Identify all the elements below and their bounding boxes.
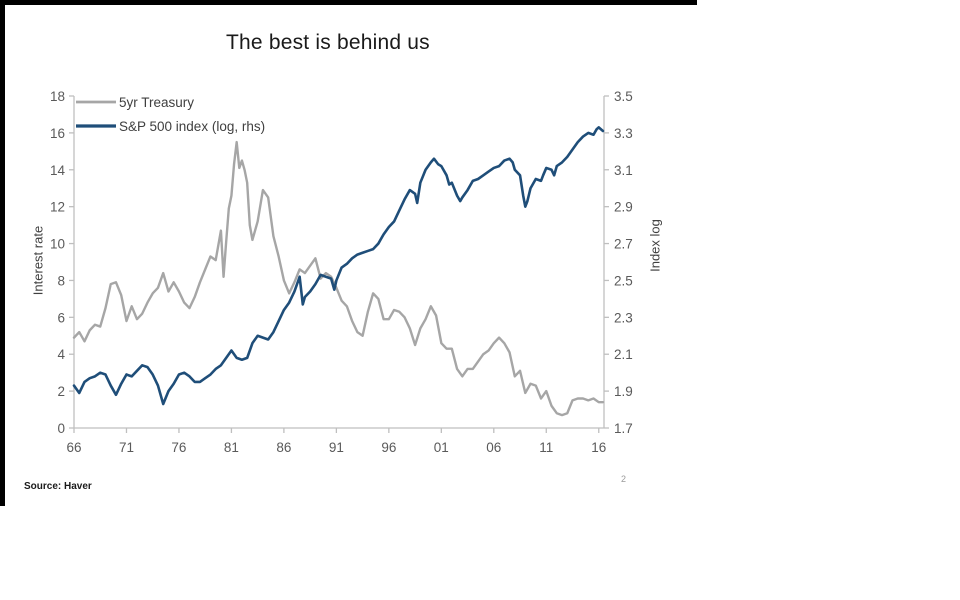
y-axis-left-tick: 10 [50,237,65,252]
slide-canvas: The best is behind us 0246810121416181.7… [0,0,960,600]
chart-series-lines [74,127,603,415]
y-axis-left-tick: 12 [50,200,65,215]
y-axis-left-tick: 2 [57,384,65,399]
page-number: 2 [621,474,626,484]
x-axis-tick: 16 [591,440,606,455]
x-axis-tick: 11 [539,440,553,455]
legend-label-1[interactable]: 5yr Treasury [119,95,194,110]
y-axis-left-tick: 14 [50,163,66,178]
series-line-2 [74,127,603,404]
y-axis-right-tick: 2.5 [614,273,633,288]
y-axis-right-tick: 2.3 [614,310,633,325]
x-axis-tick: 81 [224,440,239,455]
x-axis-tick: 91 [329,440,344,455]
y-axis-left-title: Interest rate [31,191,46,331]
x-axis-tick: 06 [486,440,501,455]
page-title: The best is behind us [226,31,430,55]
y-axis-left-tick: 0 [57,421,65,436]
chart-tick-labels: 0246810121416181.71.92.12.32.52.72.93.13… [50,89,633,455]
y-axis-left-tick: 16 [50,126,65,141]
x-axis-tick: 96 [381,440,396,455]
y-axis-right-tick: 1.7 [614,421,633,436]
y-axis-right-tick: 3.3 [614,126,633,141]
slide-frame-top-border [0,0,697,5]
x-axis-tick: 71 [119,440,134,455]
y-axis-right-title: Index log [648,191,663,301]
chart-axes [69,96,609,433]
y-axis-left-tick: 4 [57,347,65,362]
y-axis-right-tick: 2.1 [614,347,633,362]
chart-container: 0246810121416181.71.92.12.32.52.72.93.13… [14,82,684,462]
x-axis-tick: 66 [66,440,81,455]
legend-label-2[interactable]: S&P 500 index (log, rhs) [119,119,265,134]
chart-svg: 0246810121416181.71.92.12.32.52.72.93.13… [14,82,684,462]
source-note: Source: Haver [24,481,92,492]
y-axis-right-tick: 1.9 [614,384,633,399]
x-axis-tick: 01 [434,440,449,455]
y-axis-right-tick: 3.1 [614,163,633,178]
x-axis-tick: 86 [276,440,291,455]
y-axis-left-tick: 8 [57,273,65,288]
y-axis-right-tick: 2.9 [614,200,633,215]
y-axis-left-tick: 6 [57,310,65,325]
y-axis-right-tick: 3.5 [614,89,633,104]
y-axis-right-tick: 2.7 [614,237,633,252]
y-axis-left-tick: 18 [50,89,65,104]
slide-frame-left-border [0,0,5,506]
x-axis-tick: 76 [171,440,186,455]
chart-legend[interactable]: 5yr TreasuryS&P 500 index (log, rhs) [76,95,265,134]
